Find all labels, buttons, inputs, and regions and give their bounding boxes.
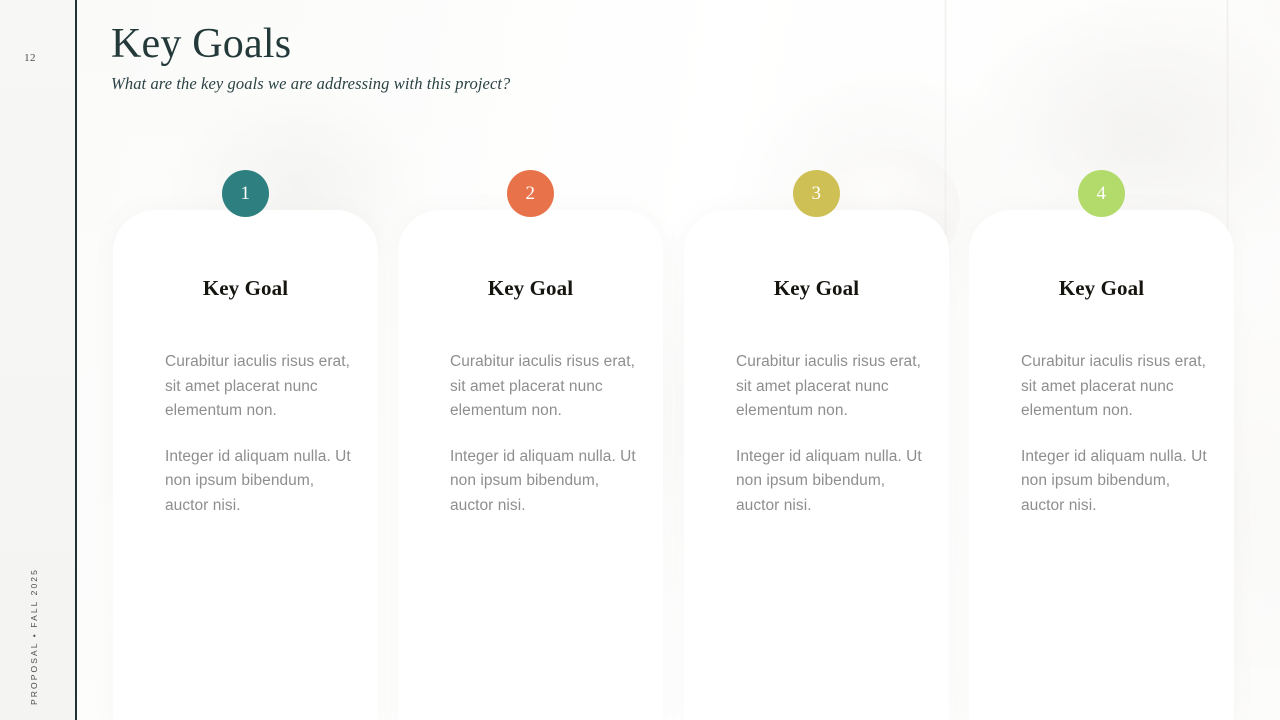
goal-number-badge-1[interactable]: 1 (222, 170, 269, 217)
goal-card-1[interactable]: Key Goal Curabitur iaculis risus erat, s… (113, 210, 378, 720)
slide-canvas: 12 PROPOSAL • FALL 2025 Key Goals What a… (0, 0, 1280, 720)
goal-card-3[interactable]: Key Goal Curabitur iaculis risus erat, s… (684, 210, 949, 720)
goal-card-2[interactable]: Key Goal Curabitur iaculis risus erat, s… (398, 210, 663, 720)
goal-number-badge-4[interactable]: 4 (1078, 170, 1125, 217)
goal-card-title: Key Goal (969, 276, 1234, 301)
goal-card-title: Key Goal (398, 276, 663, 301)
goal-card-body: Curabitur iaculis risus erat, sit amet p… (450, 350, 639, 519)
goal-card-paragraph-2: Integer id aliquam nulla. Ut non ipsum b… (1021, 445, 1210, 519)
goal-cards-group: Key Goal Curabitur iaculis risus erat, s… (0, 0, 1280, 720)
goal-card-paragraph-1: Curabitur iaculis risus erat, sit amet p… (736, 350, 925, 424)
goal-card-paragraph-1: Curabitur iaculis risus erat, sit amet p… (165, 350, 354, 424)
goal-card-paragraph-1: Curabitur iaculis risus erat, sit amet p… (450, 350, 639, 424)
goal-card-paragraph-2: Integer id aliquam nulla. Ut non ipsum b… (450, 445, 639, 519)
goal-card-title: Key Goal (113, 276, 378, 301)
goal-number-badge-2[interactable]: 2 (507, 170, 554, 217)
goal-card-body: Curabitur iaculis risus erat, sit amet p… (165, 350, 354, 519)
goal-card-body: Curabitur iaculis risus erat, sit amet p… (736, 350, 925, 519)
goal-card-title: Key Goal (684, 276, 949, 301)
goal-number-badge-3[interactable]: 3 (793, 170, 840, 217)
goal-card-body: Curabitur iaculis risus erat, sit amet p… (1021, 350, 1210, 519)
goal-card-paragraph-2: Integer id aliquam nulla. Ut non ipsum b… (165, 445, 354, 519)
goal-card-paragraph-1: Curabitur iaculis risus erat, sit amet p… (1021, 350, 1210, 424)
goal-card-4[interactable]: Key Goal Curabitur iaculis risus erat, s… (969, 210, 1234, 720)
goal-card-paragraph-2: Integer id aliquam nulla. Ut non ipsum b… (736, 445, 925, 519)
